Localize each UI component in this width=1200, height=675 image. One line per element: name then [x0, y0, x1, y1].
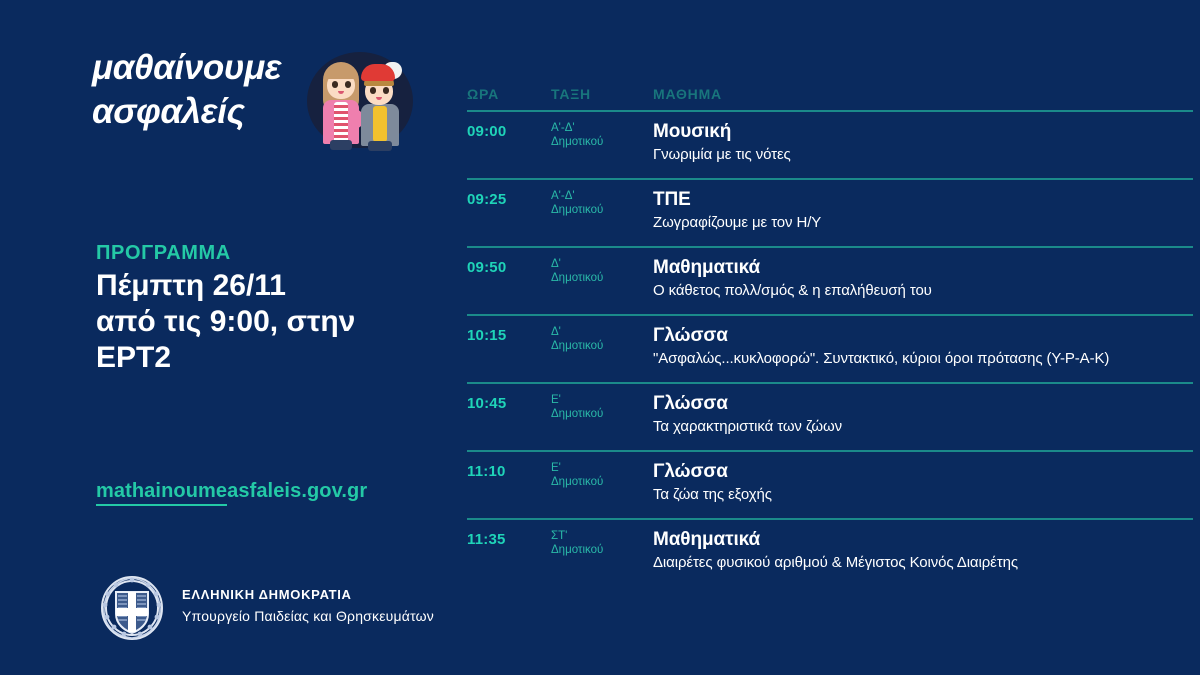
programme-date: Πέμπτη 26/11 από τις 9:00, στην ΕΡΤ2 — [96, 268, 426, 376]
subject-title: Γλώσσα — [653, 324, 1187, 347]
date-line-2: από τις 9:00, στην ΕΡΤ2 — [96, 304, 426, 376]
two-children-illustration — [299, 48, 419, 158]
cell-time: 09:00 — [467, 123, 506, 140]
cell-time: 10:45 — [467, 395, 506, 412]
table-row: 09:25 Α'-Δ' Δημοτικού ΤΠΕ Ζωγραφίζουμε μ… — [467, 178, 1193, 246]
cell-class: ΣΤ' Δημοτικού — [551, 529, 647, 557]
subject-description: Τα ζώα της εξοχής — [653, 484, 1187, 505]
boy-legs — [368, 141, 392, 151]
cell-class-line-1: ΣΤ' — [551, 529, 647, 543]
cell-class-line-1: Α'-Δ' — [551, 121, 647, 135]
subject-description: Διαιρέτες φυσικού αριθμού & Μέγιστος Κοι… — [653, 552, 1187, 573]
website-link-underlined-part: mathainoume — [96, 480, 227, 506]
brand-logo: μαθαίνουμε ασφαλείς — [92, 46, 422, 161]
column-header-time: ΩΡΑ — [467, 86, 499, 102]
cell-subject: Γλώσσα Τα χαρακτηριστικά των ζώων — [653, 392, 1193, 437]
cell-time: 11:35 — [467, 531, 506, 548]
cell-class: Ε' Δημοτικού — [551, 393, 647, 421]
boy-eye-left — [370, 87, 376, 94]
schedule-header-row: ΩΡΑ ΤΑΞΗ ΜΑΘΗΜΑ — [467, 86, 1193, 110]
subject-description: Ζωγραφίζουμε με τον Η/Υ — [653, 212, 1187, 233]
table-row: 11:35 ΣΤ' Δημοτικού Μαθηματικά Διαιρέτες… — [467, 518, 1193, 586]
cell-class-line-1: Ε' — [551, 461, 647, 475]
poster-root: μαθαίνουμε ασφαλείς — [0, 0, 1200, 675]
table-row: 09:50 Δ' Δημοτικού Μαθηματικά Ο κάθετος … — [467, 246, 1193, 314]
subject-description: Τα χαρακτηριστικά των ζώων — [653, 416, 1187, 437]
boy-cap-icon — [361, 64, 395, 81]
table-row: 11:10 Ε' Δημοτικού Γλώσσα Τα ζώα της εξο… — [467, 450, 1193, 518]
brand-wordmark: μαθαίνουμε ασφαλείς — [92, 46, 312, 134]
cell-class-line-2: Δημοτικού — [551, 271, 647, 285]
column-header-subject: ΜΑΘΗΜΑ — [653, 86, 722, 102]
cell-class-line-2: Δημοτικού — [551, 339, 647, 353]
girl-legs — [330, 140, 352, 150]
cell-class-line-2: Δημοτικού — [551, 407, 647, 421]
subject-title: Μουσική — [653, 120, 1187, 143]
website-link-rest: asfaleis.gov.gr — [227, 480, 367, 502]
cell-class: Ε' Δημοτικού — [551, 461, 647, 489]
cell-class: Α'-Δ' Δημοτικού — [551, 121, 647, 149]
cell-time: 11:10 — [467, 463, 506, 480]
cell-class: Δ' Δημοτικού — [551, 325, 647, 353]
girl-striped-shirt — [334, 102, 348, 144]
table-row: 10:45 Ε' Δημοτικού Γλώσσα Τα χαρακτηριστ… — [467, 382, 1193, 450]
brand-line-2: ασφαλείς — [92, 90, 312, 134]
ministry-name: Υπουργείο Παιδείας και Θρησκευμάτων — [182, 606, 434, 626]
programme-kicker: ΠΡΟΓΡΑΜΜΑ — [96, 242, 231, 265]
government-name: ΕΛΛΗΝΙΚΗ ΔΗΜΟΚΡΑΤΙΑ — [182, 586, 434, 604]
subject-description: Γνωριμία με τις νότες — [653, 144, 1187, 165]
subject-title: Γλώσσα — [653, 392, 1187, 415]
table-row: 09:00 Α'-Δ' Δημοτικού Μουσική Γνωριμία μ… — [467, 110, 1193, 178]
left-panel: μαθαίνουμε ασφαλείς — [0, 0, 450, 675]
cell-subject: ΤΠΕ Ζωγραφίζουμε με τον Η/Υ — [653, 188, 1193, 233]
cell-time: 09:50 — [467, 259, 506, 276]
subject-description: "Ασφαλώς...κυκλοφορώ". Συντακτικό, κύριο… — [653, 348, 1187, 369]
girl-bangs — [324, 66, 358, 79]
cell-class-line-2: Δημοτικού — [551, 135, 647, 149]
subject-title: Μαθηματικά — [653, 528, 1187, 551]
boy-eye-right — [383, 87, 389, 94]
greek-coat-of-arms-icon — [96, 572, 168, 644]
brand-line-1: μαθαίνουμε — [92, 46, 312, 90]
cell-class-line-1: Ε' — [551, 393, 647, 407]
subject-title: Γλώσσα — [653, 460, 1187, 483]
government-logo-text: ΕΛΛΗΝΙΚΗ ΔΗΜΟΚΡΑΤΙΑ Υπουργείο Παιδείας κ… — [182, 586, 434, 626]
cell-time: 09:25 — [467, 191, 506, 208]
government-logo: ΕΛΛΗΝΙΚΗ ΔΗΜΟΚΡΑΤΙΑ Υπουργείο Παιδείας κ… — [96, 572, 436, 648]
column-header-class: ΤΑΞΗ — [551, 86, 591, 102]
cell-subject: Γλώσσα "Ασφαλώς...κυκλοφορώ". Συντακτικό… — [653, 324, 1193, 369]
cell-class: Δ' Δημοτικού — [551, 257, 647, 285]
cell-subject: Γλώσσα Τα ζώα της εξοχής — [653, 460, 1193, 505]
cell-class-line-1: Α'-Δ' — [551, 189, 647, 203]
table-row: 10:15 Δ' Δημοτικού Γλώσσα "Ασφαλώς...κυκ… — [467, 314, 1193, 382]
cell-class-line-1: Δ' — [551, 325, 647, 339]
cell-subject: Μαθηματικά Διαιρέτες φυσικού αριθμού & Μ… — [653, 528, 1193, 573]
cell-class-line-2: Δημοτικού — [551, 543, 647, 557]
cell-time: 10:15 — [467, 327, 506, 344]
cell-class-line-2: Δημοτικού — [551, 475, 647, 489]
schedule-table: ΩΡΑ ΤΑΞΗ ΜΑΘΗΜΑ 09:00 Α'-Δ' Δημοτικού Μο… — [467, 86, 1193, 586]
cell-class-line-2: Δημοτικού — [551, 203, 647, 217]
boy-shirt — [373, 106, 387, 142]
subject-description: Ο κάθετος πολλ/σμός & η επαλήθευσή του — [653, 280, 1187, 301]
cell-class: Α'-Δ' Δημοτικού — [551, 189, 647, 217]
date-line-1: Πέμπτη 26/11 — [96, 268, 426, 304]
website-link[interactable]: mathainoumeasfaleis.gov.gr — [96, 480, 367, 503]
subject-title: ΤΠΕ — [653, 188, 1187, 211]
cell-subject: Μουσική Γνωριμία με τις νότες — [653, 120, 1193, 165]
girl-eye-right — [345, 81, 351, 88]
girl-eye-left — [332, 81, 338, 88]
subject-title: Μαθηματικά — [653, 256, 1187, 279]
cell-subject: Μαθηματικά Ο κάθετος πολλ/σμός & η επαλή… — [653, 256, 1193, 301]
cell-class-line-1: Δ' — [551, 257, 647, 271]
